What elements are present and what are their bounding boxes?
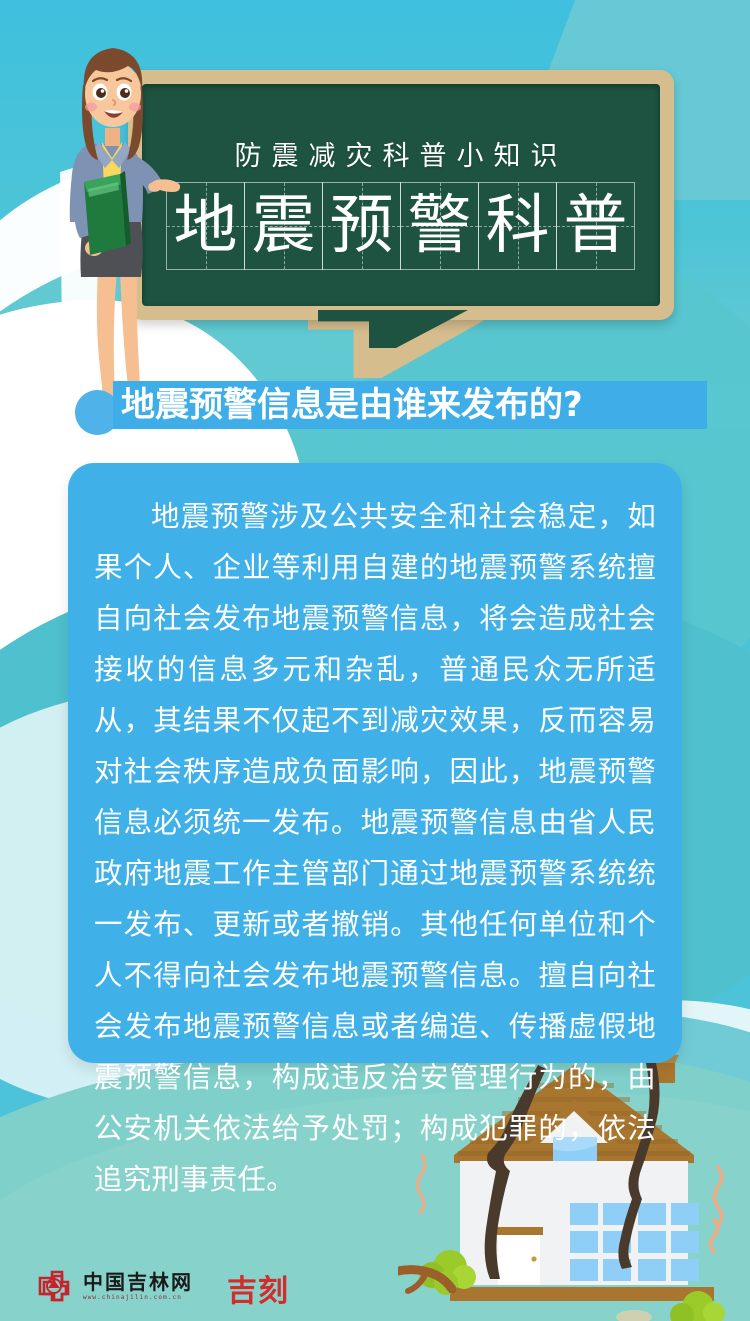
title-char: 普 bbox=[564, 194, 628, 258]
logo-text: 中国吉林网 bbox=[83, 1272, 193, 1292]
logo-text: 吉刻 bbox=[227, 1266, 289, 1310]
body-paragraph: 地震预警涉及公共安全和社会稳定，如果个人、企业等利用自建的地震预警系统擅自向社会… bbox=[94, 491, 656, 1205]
title-char: 科 bbox=[486, 194, 550, 258]
blackboard: 防震减灾科普小知识 地 震 预 警 科 bbox=[128, 70, 674, 360]
footer-logos: 中国吉林网 www.chinajilin.com.cn 吉刻 bbox=[34, 1262, 314, 1310]
blackboard-subtitle: 防震减灾科普小知识 bbox=[142, 134, 660, 173]
title-char: 警 bbox=[408, 194, 472, 258]
logo-url: www.chinajilin.com.cn bbox=[83, 1295, 193, 1301]
china-jilin-net-wordmark: 中国吉林网 www.chinajilin.com.cn bbox=[83, 1272, 193, 1301]
blackboard-main-title: 地 震 预 警 科 普 bbox=[166, 182, 636, 270]
knot-mark-icon bbox=[34, 1266, 74, 1306]
question-heading-label: 地震预警信息是由谁来发布的? bbox=[113, 388, 583, 422]
blackboard-surface: 防震减灾科普小知识 地 震 预 警 科 bbox=[142, 84, 660, 306]
title-char: 预 bbox=[330, 194, 394, 258]
jike-logo[interactable]: 吉刻 bbox=[227, 1268, 301, 1304]
title-grid-cell: 普 bbox=[556, 182, 635, 270]
question-heading: 地震预警信息是由谁来发布的? bbox=[113, 381, 707, 429]
body-card: 地震预警涉及公共安全和社会稳定，如果个人、企业等利用自建的地震预警系统擅自向社会… bbox=[68, 463, 682, 1063]
china-jilin-net-logo[interactable]: 中国吉林网 www.chinajilin.com.cn bbox=[34, 1266, 193, 1306]
title-grid-cell: 震 bbox=[244, 182, 323, 270]
poster-root: 防震减灾科普小知识 地 震 预 警 科 bbox=[0, 0, 750, 1321]
title-grid-cell: 科 bbox=[478, 182, 557, 270]
title-grid-cell: 警 bbox=[400, 182, 479, 270]
title-grid-cell: 预 bbox=[322, 182, 401, 270]
title-char: 震 bbox=[252, 194, 316, 258]
blackboard-frame: 防震减灾科普小知识 地 震 预 警 科 bbox=[128, 70, 674, 320]
teacher-character-icon bbox=[58, 32, 188, 407]
